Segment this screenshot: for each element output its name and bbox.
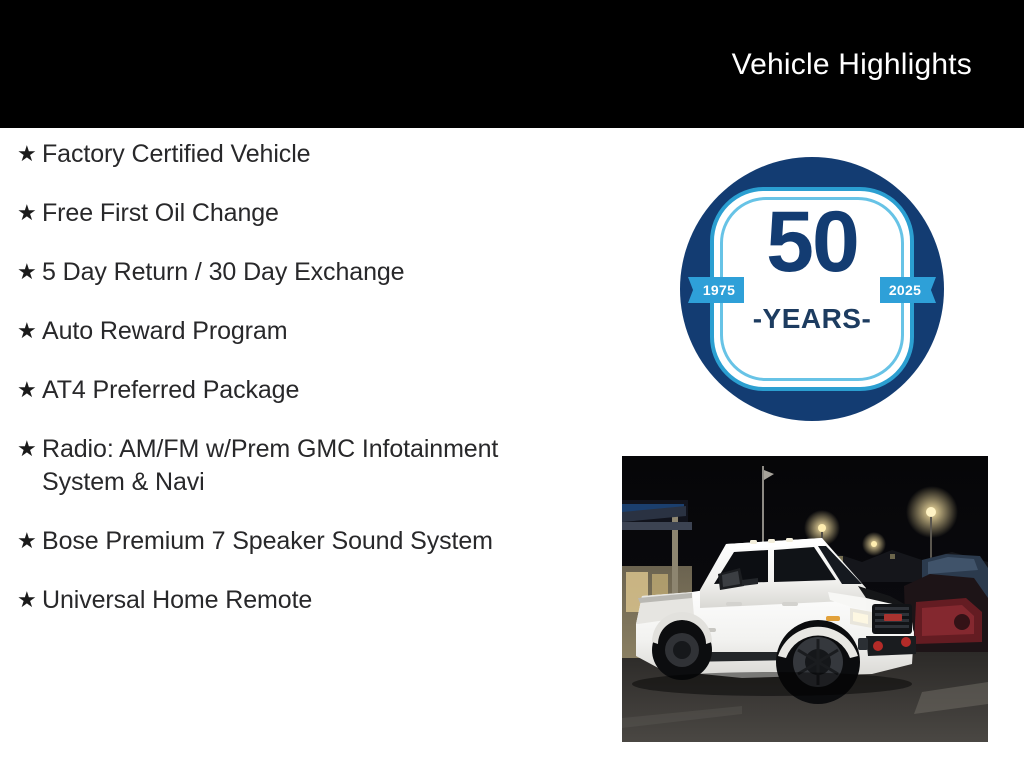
list-item-label: Factory Certified Vehicle (42, 138, 572, 171)
list-item-label: Auto Reward Program (42, 315, 572, 348)
list-item: ★ Free First Oil Change (12, 197, 572, 230)
vehicle-highlights-list: ★ Factory Certified Vehicle ★ Free First… (12, 138, 572, 643)
list-item-label: Radio: AM/FM w/Prem GMC Infotainment Sys… (42, 433, 572, 499)
badge-number: 50 (680, 199, 944, 285)
list-item-label: Bose Premium 7 Speaker Sound System (42, 525, 572, 558)
star-icon: ★ (12, 584, 42, 616)
vehicle-photo (622, 456, 988, 742)
star-icon: ★ (12, 256, 42, 288)
star-icon: ★ (12, 433, 42, 465)
list-item-label: AT4 Preferred Package (42, 374, 572, 407)
star-icon: ★ (12, 197, 42, 229)
list-item: ★ Bose Premium 7 Speaker Sound System (12, 525, 572, 558)
list-item: ★ Radio: AM/FM w/Prem GMC Infotainment S… (12, 433, 572, 499)
list-item: ★ 5 Day Return / 30 Day Exchange (12, 256, 572, 289)
list-item-label: Universal Home Remote (42, 584, 572, 617)
page-title: Vehicle Highlights (732, 50, 972, 80)
list-item: ★ Factory Certified Vehicle (12, 138, 572, 171)
header-bar: Vehicle Highlights (0, 0, 1024, 128)
vehicle-photo-illustration (622, 456, 988, 742)
list-item-label: Free First Oil Change (42, 197, 572, 230)
badge-years-label: -YEARS- (680, 305, 944, 333)
star-icon: ★ (12, 525, 42, 557)
vehicle-highlights-page: Vehicle Highlights ★ Factory Certified V… (0, 0, 1024, 768)
list-item-label: 5 Day Return / 30 Day Exchange (42, 256, 572, 289)
list-item: ★ Universal Home Remote (12, 584, 572, 617)
star-icon: ★ (12, 315, 42, 347)
star-icon: ★ (12, 374, 42, 406)
anniversary-badge-logo: 1975 2025 50 -YEARS- (680, 157, 944, 421)
list-item: ★ AT4 Preferred Package (12, 374, 572, 407)
star-icon: ★ (12, 138, 42, 170)
list-item: ★ Auto Reward Program (12, 315, 572, 348)
